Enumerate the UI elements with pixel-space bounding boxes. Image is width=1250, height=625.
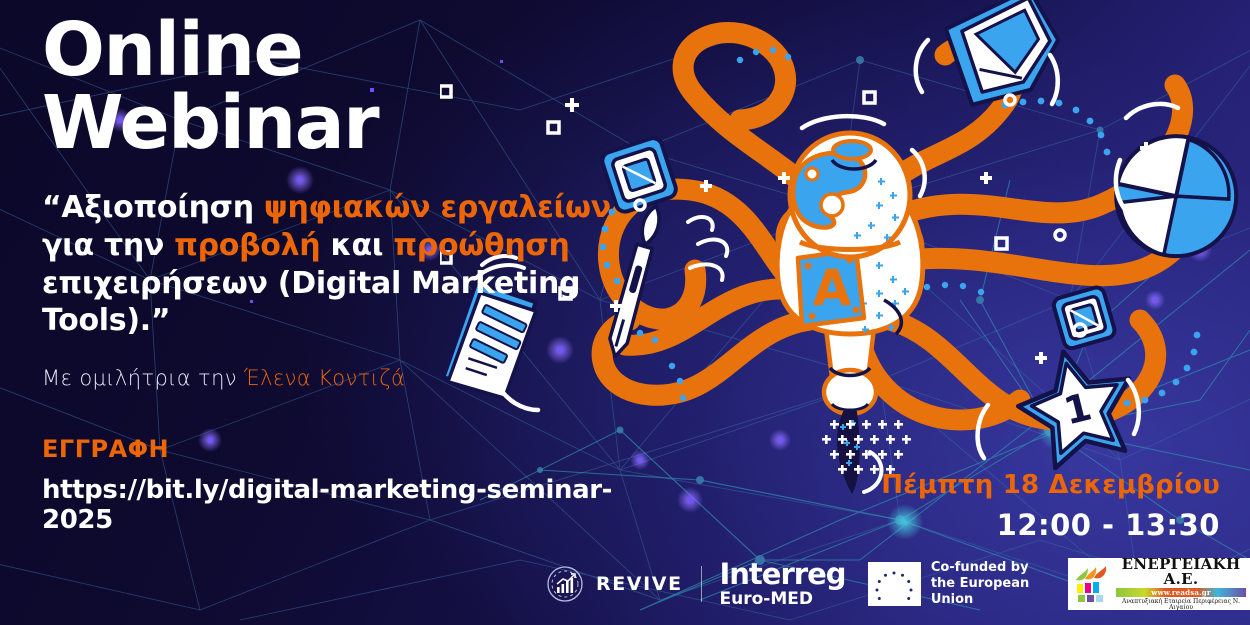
robot-eye xyxy=(806,168,818,180)
event-time: 12:00 - 13:30 xyxy=(881,508,1220,542)
eu-funding-logo: Co-funded by the European Union xyxy=(868,560,1051,609)
quote-segment-3: εργαλείων xyxy=(440,190,610,225)
pie-chart-object xyxy=(1105,125,1247,267)
quote-segment-0: “Αξιοποίηση xyxy=(42,190,264,225)
motion-arc xyxy=(1050,55,1058,104)
readsa-subtitle: Αναπτυξιακή Εταιρεία Περιφέρειας Ν. Αιγα… xyxy=(1116,599,1246,611)
robot-antenna xyxy=(833,141,871,159)
registration-url[interactable]: https://bit.ly/digital-marketing-seminar… xyxy=(42,475,672,535)
title-line-2: Webinar xyxy=(42,87,672,160)
eu-flag-icon xyxy=(868,562,921,606)
schedule-block: Πέμπτη 18 Δεκεμβρίου 12:00 - 13:30 xyxy=(881,470,1220,542)
speaker-line: Με ομιλήτρια την Έλενα Κοντιζά xyxy=(42,366,672,390)
readsa-colored-marks-icon xyxy=(1072,564,1112,604)
quote-segment-1: ψηφιακών xyxy=(264,190,430,225)
speaker-name: Έλενα Κοντιζά xyxy=(244,366,405,390)
cube-object xyxy=(1052,286,1116,350)
event-date: Πέμπτη 18 Δεκεμβρίου xyxy=(881,470,1220,500)
left-content-column: Online Webinar “Αξιοποίηση ψηφιακών εργα… xyxy=(42,14,672,535)
quote-segment-2 xyxy=(430,190,440,225)
readsa-logo: ΕΝΕΡΓΕΙΑΚΗ Α.Ε. www.readsa.gr Αναπτυξιακ… xyxy=(1068,558,1250,610)
eu-funding-text: Co-funded by the European Union xyxy=(931,560,1050,609)
motion-arc xyxy=(916,40,928,92)
interreg-line-2: Euro-MED xyxy=(720,591,846,608)
eu-text-line-2: the European Union xyxy=(931,576,1050,609)
readsa-website-bar: www.readsa.gr xyxy=(1116,588,1246,597)
webinar-quote: “Αξιοποίηση ψηφιακών εργαλείων για την π… xyxy=(42,189,672,340)
interreg-logo: Interreg Euro-MED xyxy=(720,560,846,608)
motion-arc xyxy=(1126,104,1178,118)
quote-segment-8: επιχειρήσεων (Digital Marketing Tools).” xyxy=(42,266,580,339)
quote-segment-6: και xyxy=(320,228,393,263)
quote-segment-5: προβολή xyxy=(174,228,320,263)
webinar-poster: 1 xyxy=(0,0,1250,625)
readsa-website: www.readsa.gr xyxy=(1151,589,1210,596)
quote-segment-7: προώθηση xyxy=(393,228,569,263)
robot-eye xyxy=(821,194,843,216)
logo-divider xyxy=(701,566,702,602)
readsa-text-block: ΕΝΕΡΓΕΙΑΚΗ Α.Ε. www.readsa.gr Αναπτυξιακ… xyxy=(1116,557,1246,611)
growth-chart-circle-icon xyxy=(545,564,585,604)
interreg-line-1: Interreg xyxy=(720,560,846,589)
plus-grid-decor xyxy=(822,420,911,474)
eu-text-line-1: Co-funded by xyxy=(931,560,1050,576)
page-title: Online Webinar xyxy=(42,14,672,159)
readsa-title: ΕΝΕΡΓΕΙΑΚΗ Α.Ε. xyxy=(1116,557,1246,587)
quote-segment-4: για την xyxy=(42,228,174,263)
revive-logo: REVIVE xyxy=(545,564,683,604)
footer-logo-strip: REVIVE Interreg Euro-MED xyxy=(545,555,1250,613)
registration-label: ΕΓΓΡΑΦΗ xyxy=(42,435,672,463)
revive-label: REVIVE xyxy=(596,573,683,595)
speaker-prefix: Με ομιλήτρια την xyxy=(42,366,244,390)
motion-arc xyxy=(802,116,884,128)
robot-chest-letter: A xyxy=(813,259,852,317)
